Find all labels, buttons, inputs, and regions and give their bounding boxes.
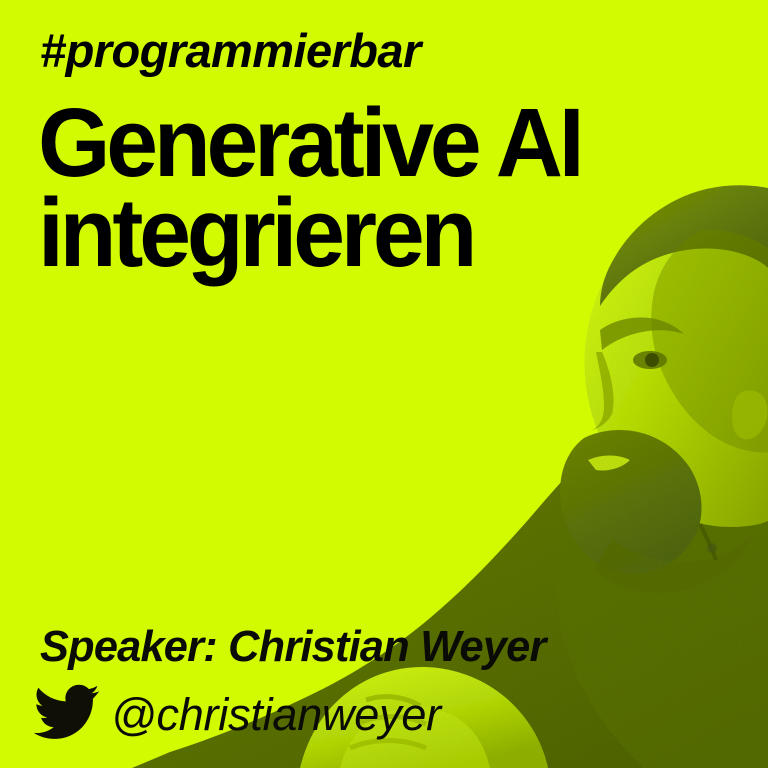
page-title: Generative AI integrieren: [38, 98, 580, 278]
speaker-handle-row: @christianweyer: [34, 684, 441, 740]
speaker-name-label: Speaker: Christian Weyer: [40, 622, 546, 672]
brand-hashtag: #programmierbar: [40, 24, 421, 78]
page-title-line-1: Generative AI: [38, 98, 580, 188]
speaker-handle-text: @christianweyer: [111, 692, 441, 737]
speaker-announcement-card: #programmierbar Generative AI integriere…: [0, 0, 768, 768]
twitter-bird-icon: [34, 684, 100, 740]
page-title-line-2: integrieren: [38, 188, 580, 278]
card-text-layer: #programmierbar Generative AI integriere…: [0, 0, 768, 768]
